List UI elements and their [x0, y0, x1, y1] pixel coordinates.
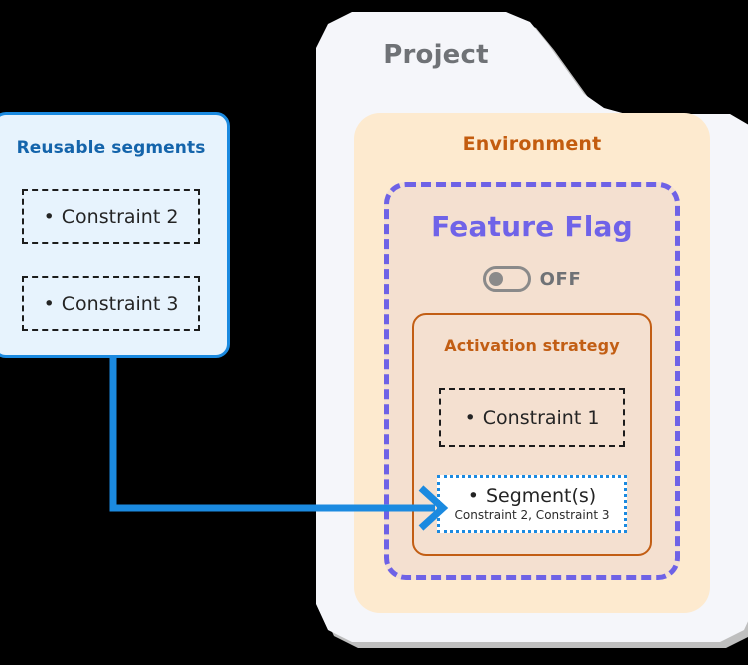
environment-title: Environment [354, 133, 710, 155]
constraint-row: •Constraint 3 [44, 293, 179, 315]
segment-label: Segment(s) [486, 485, 596, 507]
activation-strategy-title: Activation strategy [412, 336, 652, 355]
bullet-icon: • [44, 208, 55, 227]
constraint-row: •Constraint 2 [44, 206, 179, 228]
activation-segment-item: •Segment(s) Constraint 2, Constraint 3 [437, 475, 627, 533]
reusable-segments-title: Reusable segments [0, 138, 230, 158]
toggle-state-label: OFF [540, 269, 582, 290]
feature-flag-title: Feature Flag [384, 210, 680, 243]
toggle-off-icon[interactable] [483, 266, 531, 292]
constraint-row: •Constraint 1 [465, 407, 600, 429]
diagram-canvas: Project Environment Feature Flag OFF Act… [0, 0, 748, 665]
constraint-label: Constraint 3 [62, 293, 179, 315]
reusable-segment-item: •Constraint 3 [22, 276, 200, 331]
reusable-segment-item: •Constraint 2 [22, 189, 200, 244]
segment-members-label: Constraint 2, Constraint 3 [455, 508, 610, 522]
toggle-knob [489, 272, 503, 286]
bullet-icon: • [468, 487, 479, 506]
bullet-icon: • [44, 295, 55, 314]
feature-flag-toggle-row: OFF [384, 266, 680, 292]
segment-row: •Segment(s) [468, 487, 596, 507]
project-title: Project [316, 40, 556, 70]
constraint-label: Constraint 1 [483, 407, 600, 429]
bullet-icon: • [465, 409, 476, 428]
activation-constraint-item: •Constraint 1 [439, 388, 625, 447]
constraint-label: Constraint 2 [62, 206, 179, 228]
